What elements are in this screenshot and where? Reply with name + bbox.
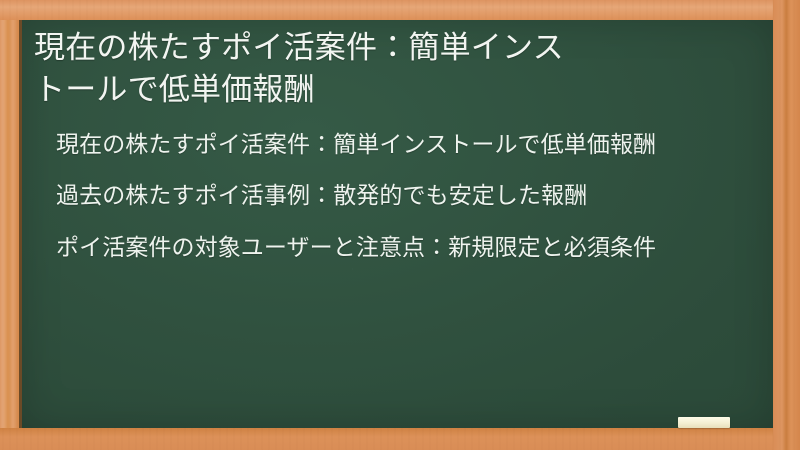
page-title: 現在の株たすポイ活案件：簡単インス トールで低単価報酬: [34, 28, 761, 111]
outline-list: 現在の株たすポイ活案件：簡単インストールで低単価報酬 過去の株たすポイ活事例：散…: [34, 130, 761, 264]
list-item: ポイ活案件の対象ユーザーと注意点：新規限定と必須条件: [56, 233, 761, 264]
board-content: 現在の株たすポイ活案件：簡単インス トールで低単価報酬 現在の株たすポイ活案件：…: [22, 20, 773, 264]
list-item: 現在の株たすポイ活案件：簡単インストールで低単価報酬: [56, 130, 761, 161]
list-item: 過去の株たすポイ活事例：散発的でも安定した報酬: [56, 181, 761, 212]
chalkboard: 現在の株たすポイ活案件：簡単インス トールで低単価報酬 現在の株たすポイ活案件：…: [22, 20, 773, 428]
blackboard-slide: 現在の株たすポイ活案件：簡単インス トールで低単価報酬 現在の株たすポイ活案件：…: [0, 0, 800, 450]
chalk-stick-icon: [678, 417, 730, 428]
